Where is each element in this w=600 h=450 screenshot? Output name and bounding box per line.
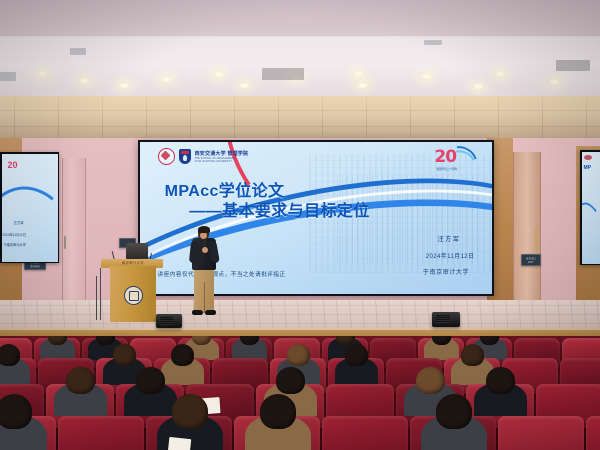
audience-head <box>461 344 485 366</box>
side-right-blue-arc <box>582 200 600 264</box>
audience-seat <box>586 416 600 450</box>
stage-floor-monitor-1 <box>156 314 182 328</box>
speaker-leg-split <box>204 282 205 313</box>
side-left-date: 2024年11月12日 <box>3 232 27 237</box>
audience-head <box>287 344 311 366</box>
wall-plaque-right-line2: EXIT <box>522 260 540 265</box>
anniversary-subtitle: 管理学院二十周年 <box>436 167 457 171</box>
speaker-hand <box>202 247 208 253</box>
side-left-anniversary-mark: 20 <box>8 160 18 170</box>
audience-head <box>260 394 296 429</box>
ceiling-downlight-8 <box>352 70 365 77</box>
ceiling-downlight-5 <box>212 71 225 78</box>
audience-head <box>171 344 195 366</box>
slide-presenter-name: 汪方军 <box>437 233 460 243</box>
ceiling-downlight-3 <box>118 82 131 89</box>
wall-plaque-right: 安全出口 EXIT <box>521 254 541 266</box>
speaker-face <box>200 232 207 239</box>
side-right-logo-row <box>584 155 592 160</box>
ceiling-downlight-10 <box>420 73 433 80</box>
audience-head <box>0 344 20 366</box>
door-right-handle[interactable] <box>535 228 538 250</box>
side-right-title: MP <box>584 165 592 171</box>
presentation-slide: 西安交通大学 管理学院 THE SCHOOL OF MANAGEMENT XI'… <box>140 142 492 294</box>
podium-cable-1 <box>100 268 101 320</box>
audience-head <box>0 394 32 429</box>
audience-seat <box>322 416 408 450</box>
ceiling-vent-5 <box>0 72 16 81</box>
speaker-shoe-left <box>192 310 203 315</box>
slide-title-line-2: ——基本要求与目标定位 <box>189 197 369 221</box>
audience-head <box>486 367 515 394</box>
stone-wall-lighting <box>0 96 600 140</box>
side-screen-left: 20 汪方军 2024年11月12日 于南京审计大学 <box>0 152 59 263</box>
stage-floor-monitor-2 <box>432 312 460 327</box>
side-left-place: 于南京审计大学 <box>4 242 26 247</box>
anniversary-number: 20 <box>434 149 456 166</box>
audience-notebook <box>167 437 192 450</box>
ceiling-downlight-13 <box>548 78 561 85</box>
ceiling-vent-1 <box>70 48 86 55</box>
anniversary-logo: 20 管理学院二十周年 <box>434 148 474 172</box>
podium-crest-icon <box>124 286 143 305</box>
school-shield-icon <box>179 149 191 164</box>
slide-disclaimer: 讲座内容仅代表个人观点，不当之处请批评指正 <box>158 270 286 278</box>
audience-seat <box>498 416 584 450</box>
lecture-hall-photo: 消防设施 请勿遮挡 安全出口 EXIT 20 汪方军 2024年11月12日 于… <box>0 0 600 450</box>
slide-date: 2024年11月12日 <box>426 251 475 260</box>
ceiling-downlight-4 <box>160 76 173 83</box>
side-screen-left-content: 20 汪方军 2024年11月12日 于南京审计大学 <box>2 154 58 262</box>
university-seal-icon <box>158 148 175 165</box>
audience-seat <box>58 416 144 450</box>
side-screen-right: MP <box>580 150 600 265</box>
ceiling-downlight-11 <box>472 83 485 90</box>
audience-head <box>136 367 165 394</box>
ceiling-downlight-1 <box>36 70 49 77</box>
audience-head <box>416 367 445 394</box>
slide-logo-group: 西安交通大学 管理学院 THE SCHOOL OF MANAGEMENT XI'… <box>158 148 249 165</box>
ceiling-downlight-2 <box>78 77 91 84</box>
audience-head <box>113 344 137 366</box>
speaker-hair <box>198 226 210 233</box>
door-left-handle[interactable] <box>64 236 66 249</box>
audience-head <box>345 344 369 366</box>
door-left[interactable] <box>62 158 86 308</box>
podium-laptop[interactable] <box>126 243 148 259</box>
podium-name-plate: 南京审计大学 <box>110 260 156 265</box>
slide-org-en-2: XI'AN JIAOTONG UNIVERSITY <box>195 160 249 163</box>
ceiling-vent-4 <box>556 60 590 71</box>
slide-place: 于南京审计大学 <box>423 267 469 276</box>
main-projection-screen: 西安交通大学 管理学院 THE SCHOOL OF MANAGEMENT XI'… <box>138 140 494 296</box>
audience-head <box>66 367 95 394</box>
wall-plaque-left-line2: 请勿遮挡 <box>25 264 45 269</box>
audience-seating <box>0 336 600 450</box>
audience-head <box>172 394 208 429</box>
speaker-shoe-right <box>205 310 216 315</box>
podium-cable-2 <box>96 276 97 320</box>
audience-head <box>276 367 305 394</box>
ceiling-downlight-9 <box>356 82 369 89</box>
ceiling-downlight-6 <box>238 82 251 89</box>
side-screen-right-content: MP <box>582 152 600 264</box>
side-left-presenter: 汪方军 <box>14 220 24 225</box>
ceiling-vent-3 <box>424 40 442 45</box>
ceiling-vent-2 <box>262 68 304 80</box>
slide-org-text: 西安交通大学 管理学院 THE SCHOOL OF MANAGEMENT XI'… <box>195 151 249 163</box>
audience-head <box>436 394 472 429</box>
ceiling-downlight-12 <box>494 70 507 77</box>
